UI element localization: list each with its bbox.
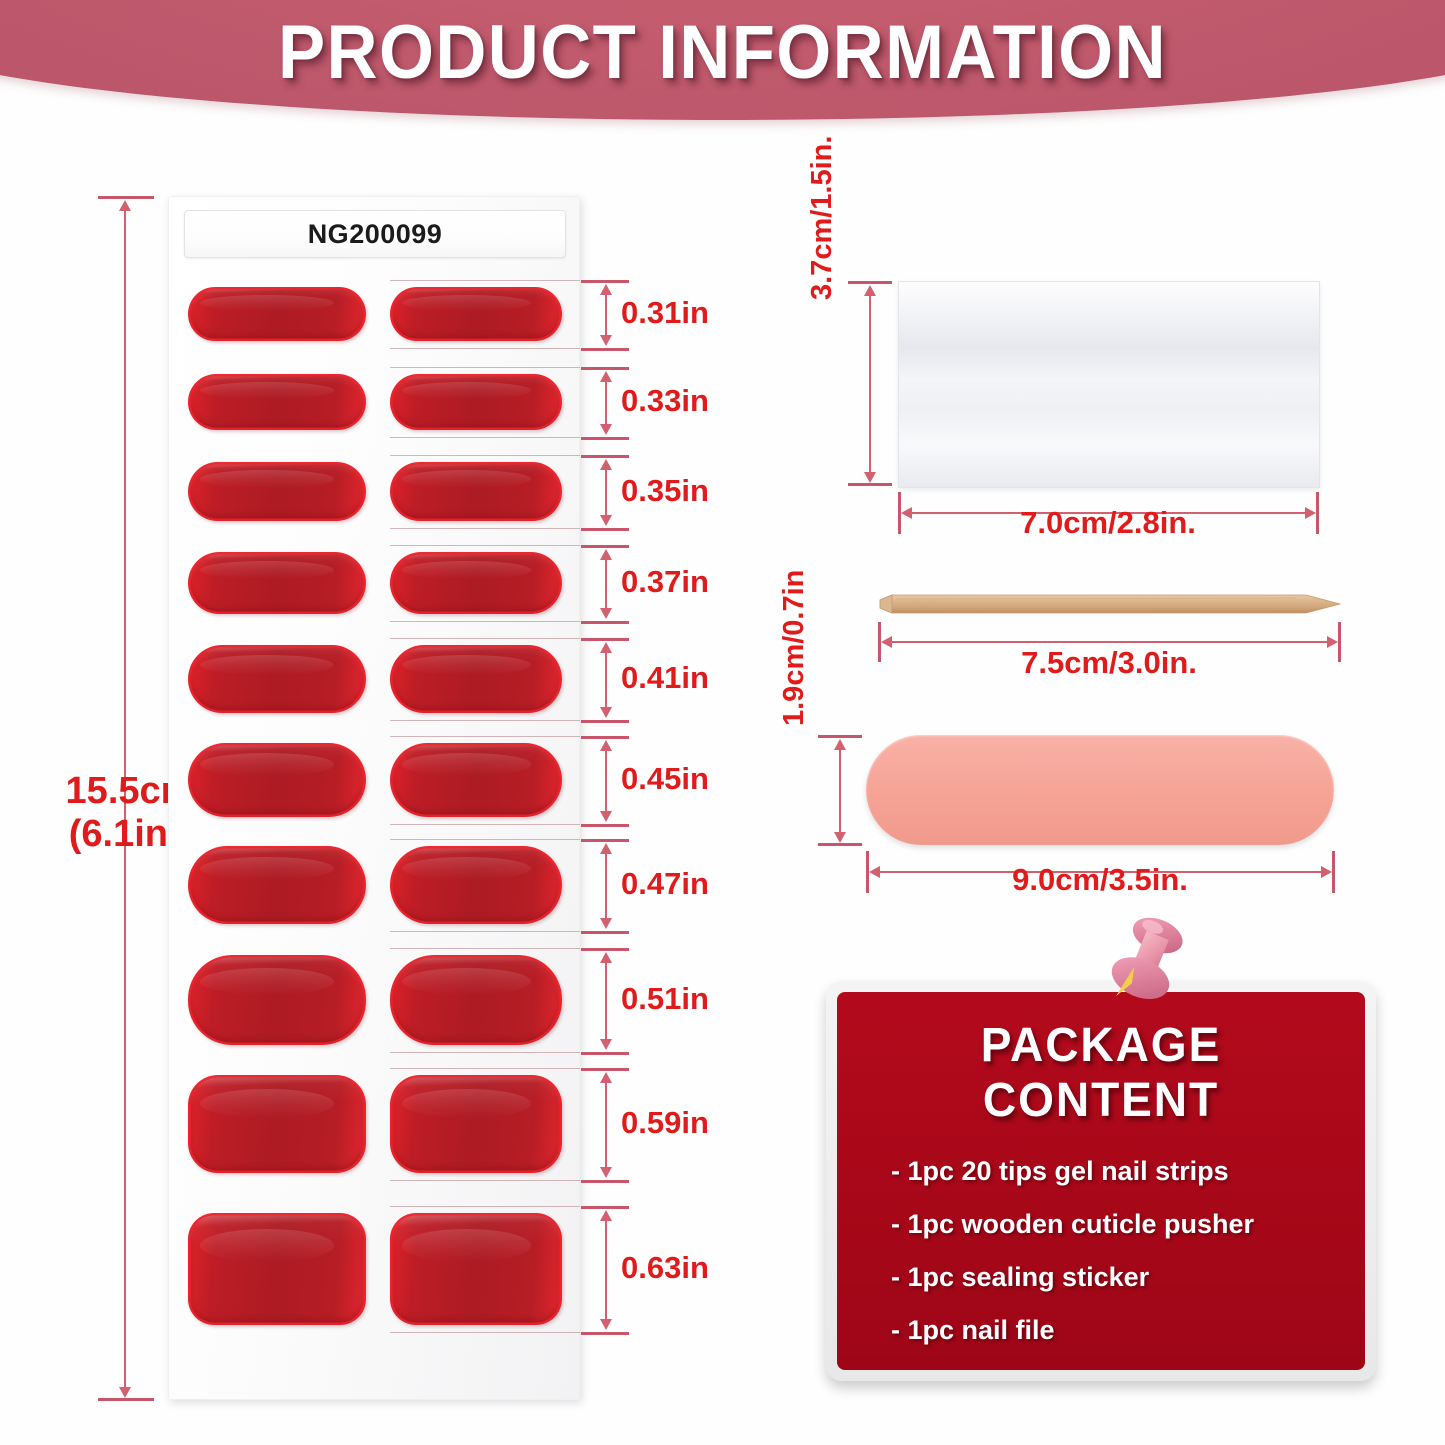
- row-dimension-label: 0.37in: [621, 564, 709, 600]
- row-dim-tick-bottom: [581, 621, 629, 624]
- strip-divider-line: [390, 638, 580, 639]
- row-dim-arrow-up: [600, 371, 612, 382]
- row-dim-line: [605, 464, 607, 519]
- nail-file-height-label: 1.9cm/0.7in: [778, 526, 811, 726]
- file-h-tick-top: [818, 735, 862, 738]
- row-dim-arrow-down: [600, 424, 612, 435]
- package-content-list: - 1pc 20 tips gel nail strips- 1pc woode…: [857, 1156, 1345, 1346]
- row-dim-line: [605, 647, 607, 711]
- row-dimension-label: 0.63in: [621, 1250, 709, 1286]
- row-dim-arrow-up: [600, 740, 612, 751]
- row-dim-tick-bottom: [581, 824, 629, 827]
- strip-divider-line: [390, 1332, 580, 1333]
- row-dim-line: [605, 376, 607, 428]
- strip-divider-line: [390, 437, 580, 438]
- nail-strip: [390, 552, 562, 614]
- nail-strip: [188, 846, 366, 924]
- sealing-sticker-height-label: 3.7cm/1.5in.: [806, 100, 839, 300]
- row-dim-arrow-up: [600, 1210, 612, 1221]
- nail-strip: [390, 1213, 562, 1325]
- row-dim-arrow-down: [600, 811, 612, 822]
- package-content-item: - 1pc 20 tips gel nail strips: [891, 1156, 1345, 1187]
- overall-tick-top: [98, 196, 154, 199]
- file-height-arrow-down: [834, 832, 846, 843]
- nail-strip: [188, 552, 366, 614]
- row-dimension-label: 0.45in: [621, 761, 709, 797]
- nail-strip: [188, 955, 366, 1045]
- row-dim-tick-top: [581, 1206, 629, 1209]
- strip-divider-line: [390, 1052, 580, 1053]
- row-dim-tick-top: [581, 455, 629, 458]
- nail-strip: [188, 1213, 366, 1325]
- row-dim-tick-bottom: [581, 931, 629, 934]
- row-dim-line: [605, 848, 607, 922]
- row-dim-arrow-down: [600, 608, 612, 619]
- package-content-title: PACKAGE CONTENT: [867, 1018, 1335, 1128]
- row-dim-tick-bottom: [581, 1332, 629, 1335]
- sticker-height-line: [869, 291, 871, 477]
- row-dim-tick-top: [581, 638, 629, 641]
- row-dim-arrow-down: [600, 335, 612, 346]
- file-h-tick-bottom: [818, 843, 862, 846]
- row-dimension-label: 0.41in: [621, 660, 709, 696]
- wooden-cuticle-pusher-image: [876, 592, 1342, 616]
- row-dim-arrow-down: [600, 515, 612, 526]
- row-dim-arrow-down: [600, 1039, 612, 1050]
- row-dim-arrow-up: [600, 1072, 612, 1083]
- strip-divider-line: [390, 367, 580, 368]
- row-dim-tick-bottom: [581, 348, 629, 351]
- strip-divider-line: [390, 280, 580, 281]
- nail-strip: [390, 743, 562, 817]
- row-dimension-label: 0.35in: [621, 473, 709, 509]
- row-dim-tick-top: [581, 280, 629, 283]
- file-height-line: [839, 745, 841, 837]
- nail-strip: [390, 846, 562, 924]
- nail-strip: [390, 462, 562, 521]
- nail-strip: [188, 1075, 366, 1173]
- strip-divider-line: [390, 1206, 580, 1207]
- row-dim-line: [605, 745, 607, 815]
- row-dim-tick-top: [581, 1068, 629, 1071]
- nail-strip: [390, 287, 562, 341]
- strip-divider-line: [390, 736, 580, 737]
- nail-strip: [188, 287, 366, 341]
- row-dim-line: [605, 554, 607, 612]
- row-dimension-label: 0.33in: [621, 383, 709, 419]
- sticker-h-tick-top: [848, 281, 892, 284]
- row-dim-tick-bottom: [581, 1180, 629, 1183]
- strip-divider-line: [390, 948, 580, 949]
- stick-length-line: [888, 641, 1330, 643]
- nail-strip: [188, 645, 366, 713]
- sealing-sticker-width-label: 7.0cm/2.8in.: [898, 505, 1318, 541]
- row-dim-arrow-down: [600, 918, 612, 929]
- sealing-sticker-image: [898, 281, 1320, 488]
- package-content-inner: PACKAGE CONTENT - 1pc 20 tips gel nail s…: [837, 992, 1365, 1370]
- row-dim-arrow-up: [600, 952, 612, 963]
- overall-arrow-up: [119, 200, 131, 211]
- package-content-item: - 1pc wooden cuticle pusher: [891, 1209, 1345, 1240]
- row-dim-line: [605, 1077, 607, 1171]
- nail-file-width-label: 9.0cm/3.5in.: [866, 862, 1334, 898]
- row-dim-tick-top: [581, 839, 629, 842]
- row-dim-arrow-up: [600, 549, 612, 560]
- row-dim-tick-bottom: [581, 437, 629, 440]
- package-content-item: - 1pc sealing sticker: [891, 1262, 1345, 1293]
- strip-divider-line: [390, 545, 580, 546]
- strip-divider-line: [390, 621, 580, 622]
- sheet-code-label: NG200099: [184, 210, 566, 258]
- nail-strip: [390, 645, 562, 713]
- overall-tick-bottom: [98, 1398, 154, 1401]
- row-dimension-label: 0.31in: [621, 295, 709, 331]
- row-dimension-label: 0.51in: [621, 981, 709, 1017]
- sheet-code-text: NG200099: [308, 219, 443, 250]
- row-dim-arrow-down: [600, 707, 612, 718]
- package-content-card: PACKAGE CONTENT - 1pc 20 tips gel nail s…: [826, 981, 1376, 1381]
- row-dim-tick-bottom: [581, 528, 629, 531]
- nail-strip: [188, 374, 366, 430]
- strip-divider-line: [390, 1068, 580, 1069]
- strip-divider-line: [390, 455, 580, 456]
- file-height-arrow-up: [834, 739, 846, 750]
- pushpin-svg: [1082, 912, 1202, 1027]
- row-dim-line: [605, 957, 607, 1043]
- page-title: PRODUCT INFORMATION: [51, 12, 1395, 94]
- overall-arrow-down: [119, 1387, 131, 1398]
- nail-strip: [188, 743, 366, 817]
- nail-file-image: [866, 735, 1334, 845]
- strip-divider-line: [390, 1180, 580, 1181]
- row-dim-tick-top: [581, 367, 629, 370]
- sticker-height-arrow-up: [864, 285, 876, 296]
- cuticle-pusher-svg: [876, 592, 1342, 616]
- strip-divider-line: [390, 348, 580, 349]
- row-dim-tick-top: [581, 545, 629, 548]
- package-content-item: - 1pc nail file: [891, 1315, 1345, 1346]
- row-dim-tick-top: [581, 736, 629, 739]
- row-dim-arrow-down: [600, 1167, 612, 1178]
- cuticle-pusher-length-label: 7.5cm/3.0in.: [876, 645, 1342, 681]
- row-dim-arrow-up: [600, 284, 612, 295]
- row-dim-arrow-down: [600, 1319, 612, 1330]
- strip-divider-line: [390, 931, 580, 932]
- row-dim-arrow-up: [600, 642, 612, 653]
- strip-divider-line: [390, 720, 580, 721]
- row-dim-tick-top: [581, 948, 629, 951]
- sticker-height-arrow-down: [864, 472, 876, 483]
- row-dim-tick-bottom: [581, 720, 629, 723]
- row-dim-tick-bottom: [581, 1052, 629, 1055]
- row-dim-line: [605, 289, 607, 339]
- strip-divider-line: [390, 839, 580, 840]
- row-dimension-label: 0.47in: [621, 866, 709, 902]
- row-dim-arrow-up: [600, 843, 612, 854]
- nail-strip: [390, 955, 562, 1045]
- row-dim-line: [605, 1215, 607, 1323]
- row-dimension-label: 0.59in: [621, 1105, 709, 1141]
- nail-strip: [390, 374, 562, 430]
- pushpin-icon: [1082, 912, 1202, 1027]
- row-dim-arrow-up: [600, 459, 612, 470]
- strip-divider-line: [390, 824, 580, 825]
- sticker-h-tick-bottom: [848, 483, 892, 486]
- strip-divider-line: [390, 528, 580, 529]
- nail-strip: [188, 462, 366, 521]
- nail-strip-sheet[interactable]: NG200099: [168, 196, 580, 1400]
- nail-strip: [390, 1075, 562, 1173]
